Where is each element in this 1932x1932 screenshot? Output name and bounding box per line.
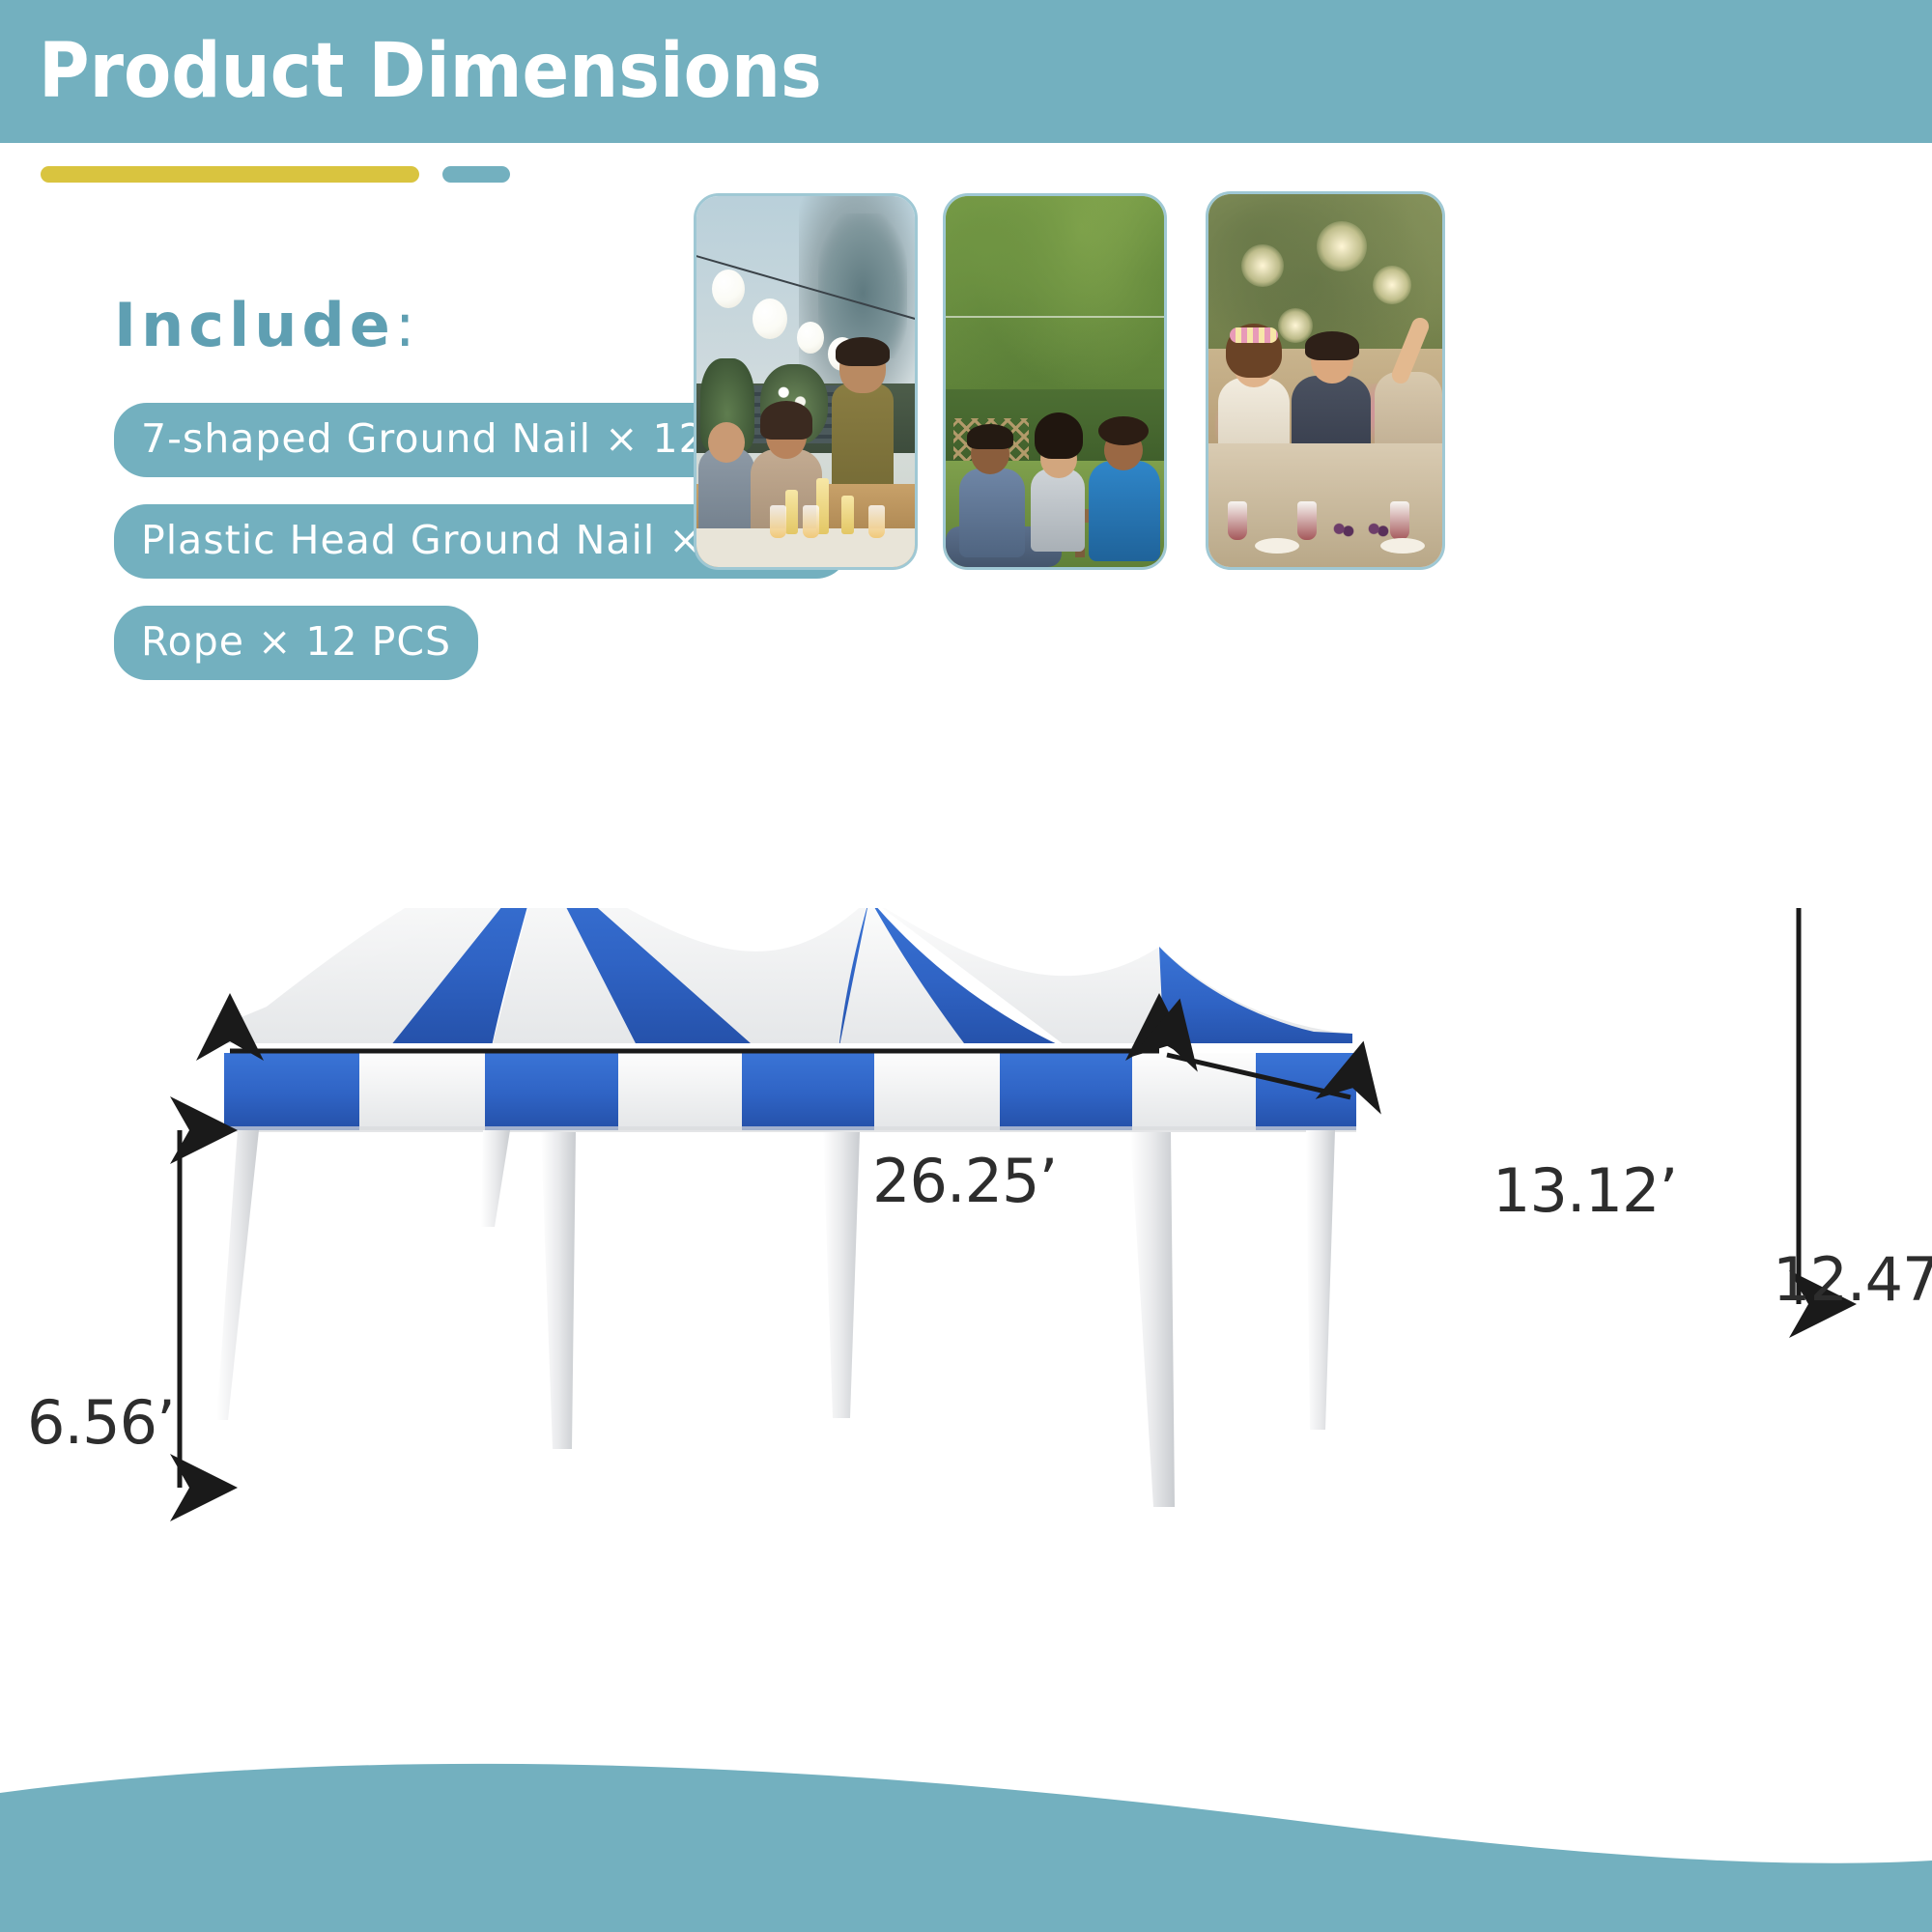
footer-wave-shape bbox=[0, 1764, 1932, 1932]
header-bar: Product Dimensions bbox=[0, 0, 1932, 143]
include-heading-text: Include bbox=[114, 290, 395, 360]
dimension-label-peak-height: 12.47’ bbox=[1773, 1244, 1932, 1315]
dimension-label-eave-height: 6.56’ bbox=[27, 1387, 175, 1458]
tent-valance bbox=[224, 1043, 1356, 1132]
product-dimension-diagram bbox=[0, 908, 1932, 1700]
photo-image-wedding-toast bbox=[1208, 194, 1442, 567]
include-item-row: Rope × 12 PCS bbox=[114, 606, 849, 707]
footer-wave bbox=[0, 1700, 1932, 1932]
accent-bar-yellow bbox=[41, 166, 419, 183]
tent-canopy bbox=[224, 908, 1352, 1053]
photo-card-patio-dinner bbox=[694, 193, 918, 570]
accent-bar-teal bbox=[442, 166, 510, 183]
dimension-label-width: 26.25’ bbox=[872, 1146, 1057, 1216]
dimension-label-depth: 13.12’ bbox=[1492, 1155, 1677, 1226]
include-heading-colon: : bbox=[395, 290, 415, 360]
photo-card-wedding-toast bbox=[1206, 191, 1445, 570]
photo-image-patio-dinner bbox=[696, 196, 915, 567]
page-title: Product Dimensions bbox=[39, 28, 822, 115]
include-pill-rope: Rope × 12 PCS bbox=[114, 606, 478, 680]
tent-legs bbox=[216, 1130, 1335, 1507]
photo-image-backyard-gathering bbox=[946, 196, 1164, 567]
photo-card-backyard-gathering bbox=[943, 193, 1167, 570]
